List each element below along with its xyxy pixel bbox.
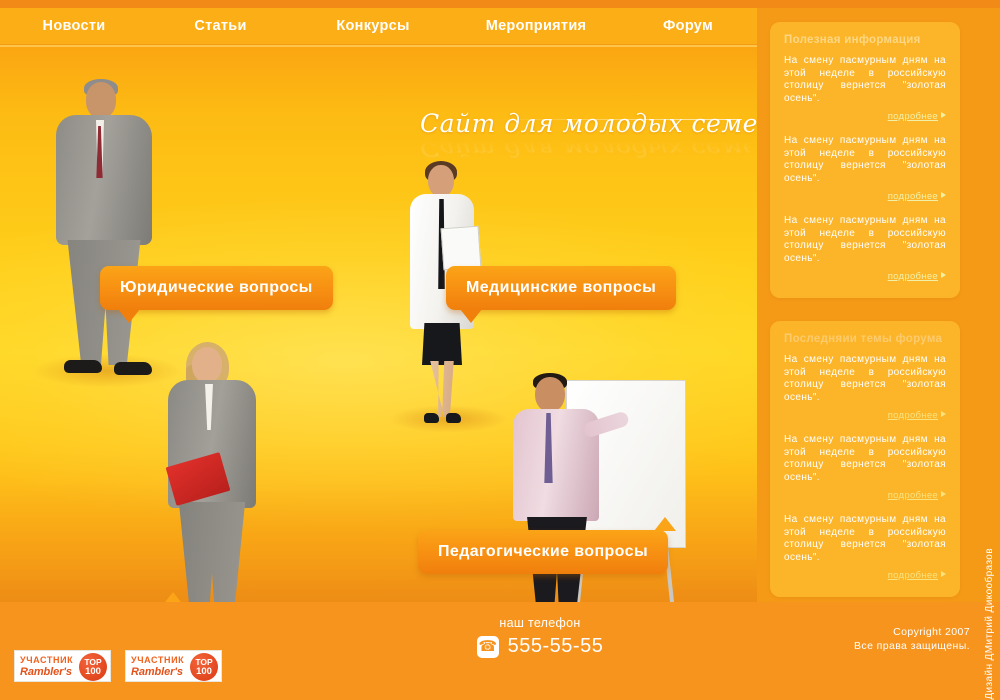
panel-latest-forum-topics: Последняии темы форума На смену пасмурны… <box>770 321 960 597</box>
phone-handset-icon: ☎ <box>477 636 499 658</box>
hero-tagline-reflection: Сайт для молодых семей <box>420 138 750 160</box>
more-arrow-icon <box>941 491 946 497</box>
callout-tail-icon <box>162 592 184 602</box>
callout-tail-icon <box>654 517 676 531</box>
psychologist-legs <box>176 502 248 602</box>
teacher-head <box>535 377 565 412</box>
panel-useful-information: Полезная информация На смену пасмурным д… <box>770 22 960 298</box>
callout-pedagogic-questions[interactable]: Педагогические вопросы <box>418 530 668 574</box>
nav-item-events[interactable]: Мероприятия <box>453 18 619 34</box>
nav-item-articles[interactable]: Статьи <box>148 18 293 34</box>
designer-credit-text: Дизайн ДМитрий Дикообразов <box>984 544 995 700</box>
copyright-line-2: Все права защищены. <box>854 639 970 653</box>
photo-lawyer <box>38 82 168 392</box>
phone-label: наш телефон <box>430 616 650 630</box>
top-accent-strip <box>0 0 1000 8</box>
more-link[interactable]: подробнее <box>888 490 938 501</box>
rambler-top100-badge[interactable]: УЧАСТНИК Rambler's TOP 100 <box>125 650 222 682</box>
news-item-text: На смену пасмурным дням на этой неделе в… <box>784 215 946 265</box>
callout-medical-questions[interactable]: Медицинские вопросы <box>446 266 676 310</box>
news-item-more-row: подробнее <box>784 106 946 124</box>
doctor-shoe-right <box>446 413 461 423</box>
callout-pedagogic-label: Педагогические вопросы <box>438 543 648 561</box>
more-arrow-icon <box>941 571 946 577</box>
counter-badges: УЧАСТНИК Rambler's TOP 100 УЧАСТНИК Ramb… <box>14 650 222 682</box>
more-arrow-icon <box>941 272 946 278</box>
nav-item-news[interactable]: Новости <box>0 18 148 34</box>
news-item-more-row: подробнее <box>784 266 946 284</box>
more-link[interactable]: подробнее <box>888 191 938 202</box>
news-item-text: На смену пасмурным дням на этой неделе в… <box>784 135 946 185</box>
panel-title: Последняии темы форума <box>784 333 946 345</box>
tagline-rule <box>492 119 742 120</box>
doctor-head <box>428 165 454 197</box>
phone-number: 555-55-55 <box>508 635 604 658</box>
more-link[interactable]: подробнее <box>888 271 938 282</box>
page-root: Новости Статьи Конкурсы Мероприятия Фору… <box>0 0 1000 700</box>
forum-item-text: На смену пасмурным дням на этой неделе в… <box>784 514 946 564</box>
main-navigation: Новости Статьи Конкурсы Мероприятия Фору… <box>0 8 757 44</box>
sidebar: Полезная информация На смену пасмурным д… <box>770 22 960 620</box>
hero-tagline: Сайт для молодых семей <box>420 109 750 138</box>
more-link[interactable]: подробнее <box>888 410 938 421</box>
phone-row: ☎ 555-55-55 <box>430 635 650 658</box>
nav-item-forum[interactable]: Форум <box>619 18 757 34</box>
more-link[interactable]: подробнее <box>888 570 938 581</box>
callout-tail-icon <box>460 309 482 323</box>
more-arrow-icon <box>941 112 946 118</box>
forum-item-more-row: подробнее <box>784 485 946 503</box>
badge-rank-number: 100 <box>196 667 212 677</box>
doctor-skirt <box>422 323 462 365</box>
designer-credit: Дизайн ДМитрий Дикообразов <box>978 520 1000 700</box>
news-item: На смену пасмурным дням на этой неделе в… <box>784 135 946 204</box>
panel-title: Полезная информация <box>784 34 946 46</box>
more-arrow-icon <box>941 411 946 417</box>
more-arrow-icon <box>941 192 946 198</box>
nav-item-contests[interactable]: Конкурсы <box>293 18 453 34</box>
news-item-text: На смену пасмурным дням на этой неделе в… <box>784 55 946 105</box>
badge-top100-circle: TOP 100 <box>79 653 107 681</box>
more-link[interactable]: подробнее <box>888 111 938 122</box>
forum-item: На смену пасмурным дням на этой неделе в… <box>784 514 946 583</box>
forum-item: На смену пасмурным дням на этой неделе в… <box>784 434 946 503</box>
forum-item: На смену пасмурным дням на этой неделе в… <box>784 354 946 423</box>
photo-psychologist <box>150 347 275 602</box>
callout-medical-label: Медицинские вопросы <box>466 279 656 297</box>
lawyer-shoe-left <box>64 360 102 373</box>
lawyer-shoe-right <box>114 362 152 375</box>
badge-rank-number: 100 <box>85 667 101 677</box>
news-item: На смену пасмурным дням на этой неделе в… <box>784 55 946 124</box>
psychologist-head <box>192 347 222 383</box>
lawyer-suit <box>56 115 152 245</box>
forum-item-text: На смену пасмурным дням на этой неделе в… <box>784 354 946 404</box>
doctor-clipboard <box>441 226 482 271</box>
copyright: Copyright 2007 Все права защищены. <box>854 625 970 653</box>
rambler-top100-badge[interactable]: УЧАСТНИК Rambler's TOP 100 <box>14 650 111 682</box>
news-item-more-row: подробнее <box>784 186 946 204</box>
hero-stage: Сайт для молодых семей Сайт для молодых … <box>0 47 757 602</box>
forum-item-more-row: подробнее <box>784 405 946 423</box>
footer: наш телефон ☎ 555-55-55 Copyright 2007 В… <box>0 602 1000 700</box>
doctor-shoe-left <box>424 413 439 423</box>
lawyer-head <box>86 82 116 118</box>
forum-item-more-row: подробнее <box>784 565 946 583</box>
copyright-line-1: Copyright 2007 <box>854 625 970 639</box>
callout-tail-icon <box>118 309 140 323</box>
callout-legal-questions[interactable]: Юридические вопросы <box>100 266 333 310</box>
forum-item-text: На смену пасмурным дням на этой неделе в… <box>784 434 946 484</box>
phone-block: наш телефон ☎ 555-55-55 <box>430 616 650 658</box>
badge-top100-circle: TOP 100 <box>190 653 218 681</box>
news-item: На смену пасмурным дням на этой неделе в… <box>784 215 946 284</box>
callout-legal-label: Юридические вопросы <box>120 279 313 297</box>
